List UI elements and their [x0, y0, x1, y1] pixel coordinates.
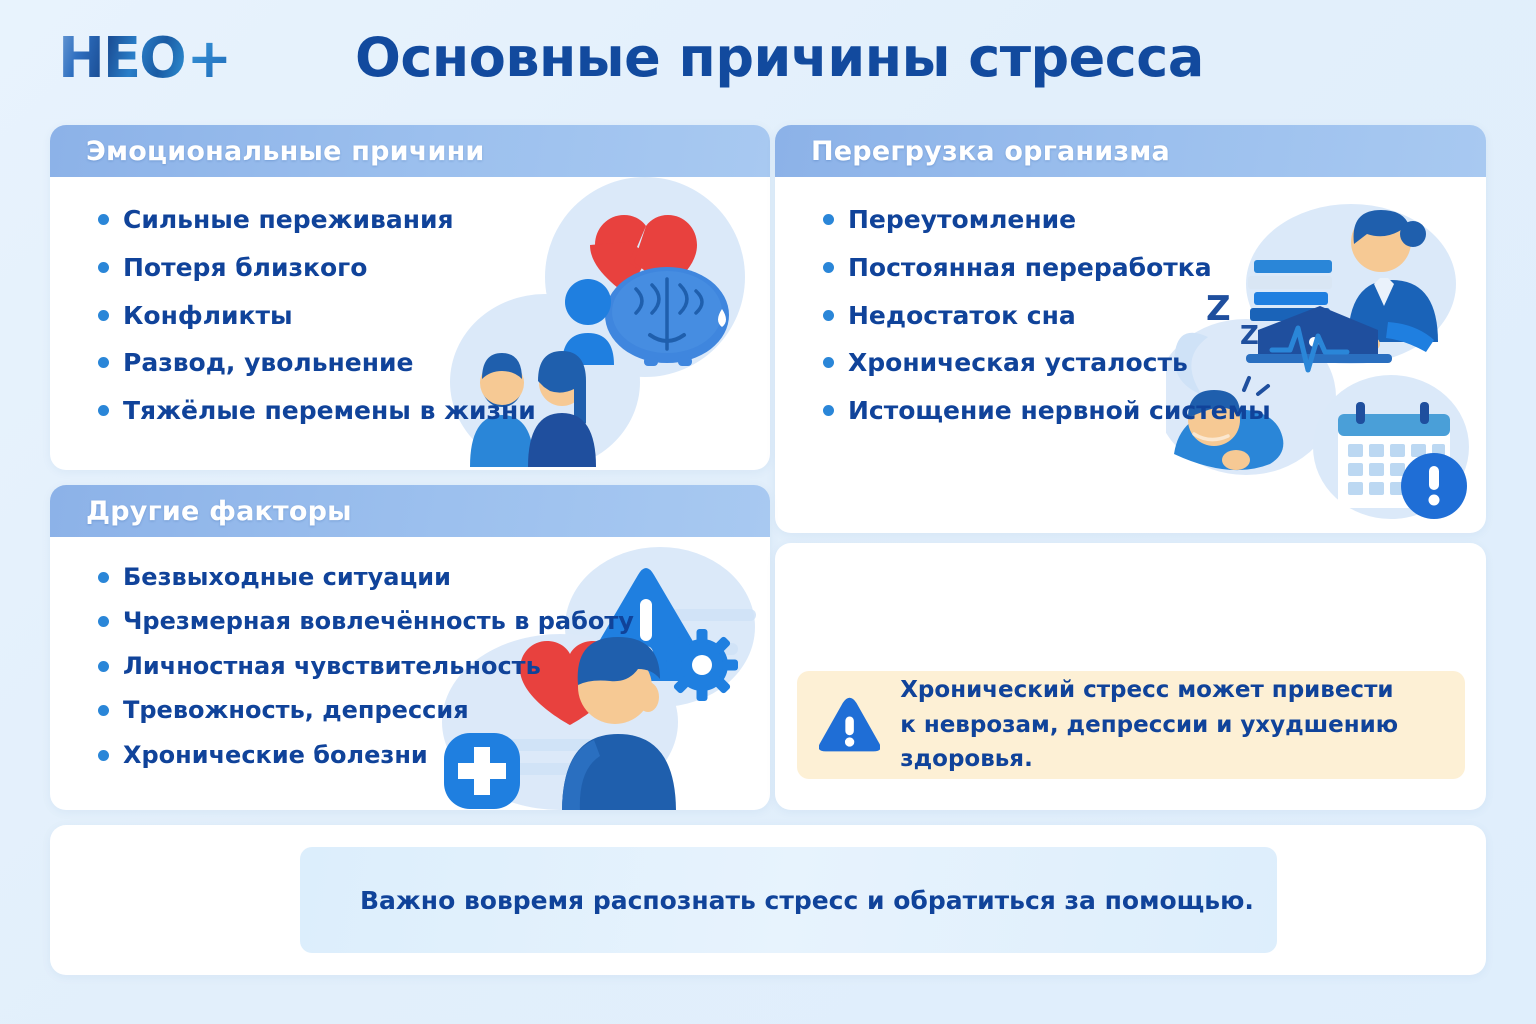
bullet-dot-icon [823, 214, 834, 225]
card-body-overload-inner: Z Z [775, 177, 1486, 533]
list-item: Постоянная переработка [823, 251, 1486, 285]
card-emotional-causes: Эмоциональные причини [50, 125, 770, 470]
list-item: Личностная чувствительность [98, 650, 770, 682]
bullet-text: Чрезмерная вовлечённость в работу [123, 605, 634, 637]
bullet-dot-icon [823, 357, 834, 368]
card-title-overload: Перегрузка организма [811, 136, 1170, 167]
bullet-dot-icon [823, 405, 834, 416]
list-item: Недостаток сна [823, 299, 1486, 333]
page-title: Основные причины стресса [355, 26, 1155, 89]
warning-line-1: Хронический стресс может привести [900, 673, 1443, 708]
bullet-text: Недостаток сна [848, 299, 1076, 333]
list-item: Хроническая усталость [823, 346, 1486, 380]
card-header-emotional: Эмоциональные причини [50, 125, 770, 177]
list-item: Чрезмерная вовлечённость в работу [98, 605, 770, 637]
list-item: Тяжёлые перемены в жизни [98, 394, 770, 428]
list-item: Сильные переживания [98, 203, 770, 237]
bullet-text: Хроническая усталость [848, 346, 1188, 380]
bullet-text: Переутомление [848, 203, 1076, 237]
warning-triangle-icon [819, 693, 880, 757]
card-title-other: Другие факторы [86, 496, 352, 527]
bullet-dot-icon [98, 572, 109, 583]
bullet-list-overload: Переутомление Постоянная переработка Нед… [775, 177, 1486, 428]
list-item: Истощение нервной системы [823, 394, 1486, 428]
card-body-emotional: Сильные переживания Потеря близкого Конф… [50, 177, 770, 470]
bullet-dot-icon [98, 214, 109, 225]
bullet-dot-icon [98, 705, 109, 716]
logo-text: НЕО [58, 31, 185, 87]
bullet-text: Сильные переживания [123, 203, 454, 237]
bullet-list-other: Безвыходные ситуации Чрезмерная вовлечён… [50, 537, 770, 771]
card-warning-container: Хронический стресс может привести к невр… [775, 543, 1486, 810]
card-header-other: Другие факторы [50, 485, 770, 537]
list-item: Конфликты [98, 299, 770, 333]
list-item: Безвыходные ситуации [98, 561, 770, 593]
card-header-overload: Перегрузка организма [775, 125, 1486, 177]
bullet-text: Тревожность, депрессия [123, 694, 469, 726]
card-title-emotional: Эмоциональные причини [86, 136, 485, 167]
list-item: Хронические болезни [98, 739, 770, 771]
infographic-page: НЕО+ Основные причины стресса Эмоциональ… [0, 0, 1536, 1024]
footer-banner: Важно вовремя распознать стресс и обрати… [300, 847, 1277, 953]
bullet-text: Постоянная переработка [848, 251, 1212, 285]
bullet-text: Конфликты [123, 299, 293, 333]
bullet-text: Развод, увольнение [123, 346, 414, 380]
bullet-text: Хронические болезни [123, 739, 428, 771]
bullet-dot-icon [98, 616, 109, 627]
bullet-dot-icon [98, 262, 109, 273]
bullet-dot-icon [98, 405, 109, 416]
footer-text: Важно вовремя распознать стресс и обрати… [360, 886, 1254, 915]
bullet-list-emotional: Сильные переживания Потеря близкого Конф… [50, 177, 770, 428]
bullet-dot-icon [98, 661, 109, 672]
card-footer-container: Важно вовремя распознать стресс и обрати… [50, 825, 1486, 975]
card-other-factors: Другие факторы [50, 485, 770, 810]
bullet-text: Безвыходные ситуации [123, 561, 451, 593]
warning-callout: Хронический стресс может привести к невр… [797, 671, 1465, 779]
bullet-dot-icon [823, 262, 834, 273]
bullet-dot-icon [823, 310, 834, 321]
list-item: Переутомление [823, 203, 1486, 237]
bullet-text: Потеря близкого [123, 251, 367, 285]
bullet-dot-icon [98, 750, 109, 761]
logo-plus-icon: + [187, 32, 232, 86]
list-item: Потеря близкого [98, 251, 770, 285]
warning-line-2: к неврозам, депрессии и ухудшению здоров… [900, 708, 1443, 777]
bullet-text: Тяжёлые перемены в жизни [123, 394, 536, 428]
bullet-text: Личностная чувствительность [123, 650, 541, 682]
card-body-overload: Перегрузка организма [775, 125, 1486, 533]
bullet-text: Истощение нервной системы [848, 394, 1271, 428]
card-body-other: Безвыходные ситуации Чрезмерная вовлечён… [50, 537, 770, 810]
list-item: Тревожность, депрессия [98, 694, 770, 726]
brand-logo: НЕО+ [58, 24, 248, 94]
bullet-dot-icon [98, 357, 109, 368]
bullet-dot-icon [98, 310, 109, 321]
list-item: Развод, увольнение [98, 346, 770, 380]
warning-text: Хронический стресс может привести к невр… [900, 673, 1443, 777]
